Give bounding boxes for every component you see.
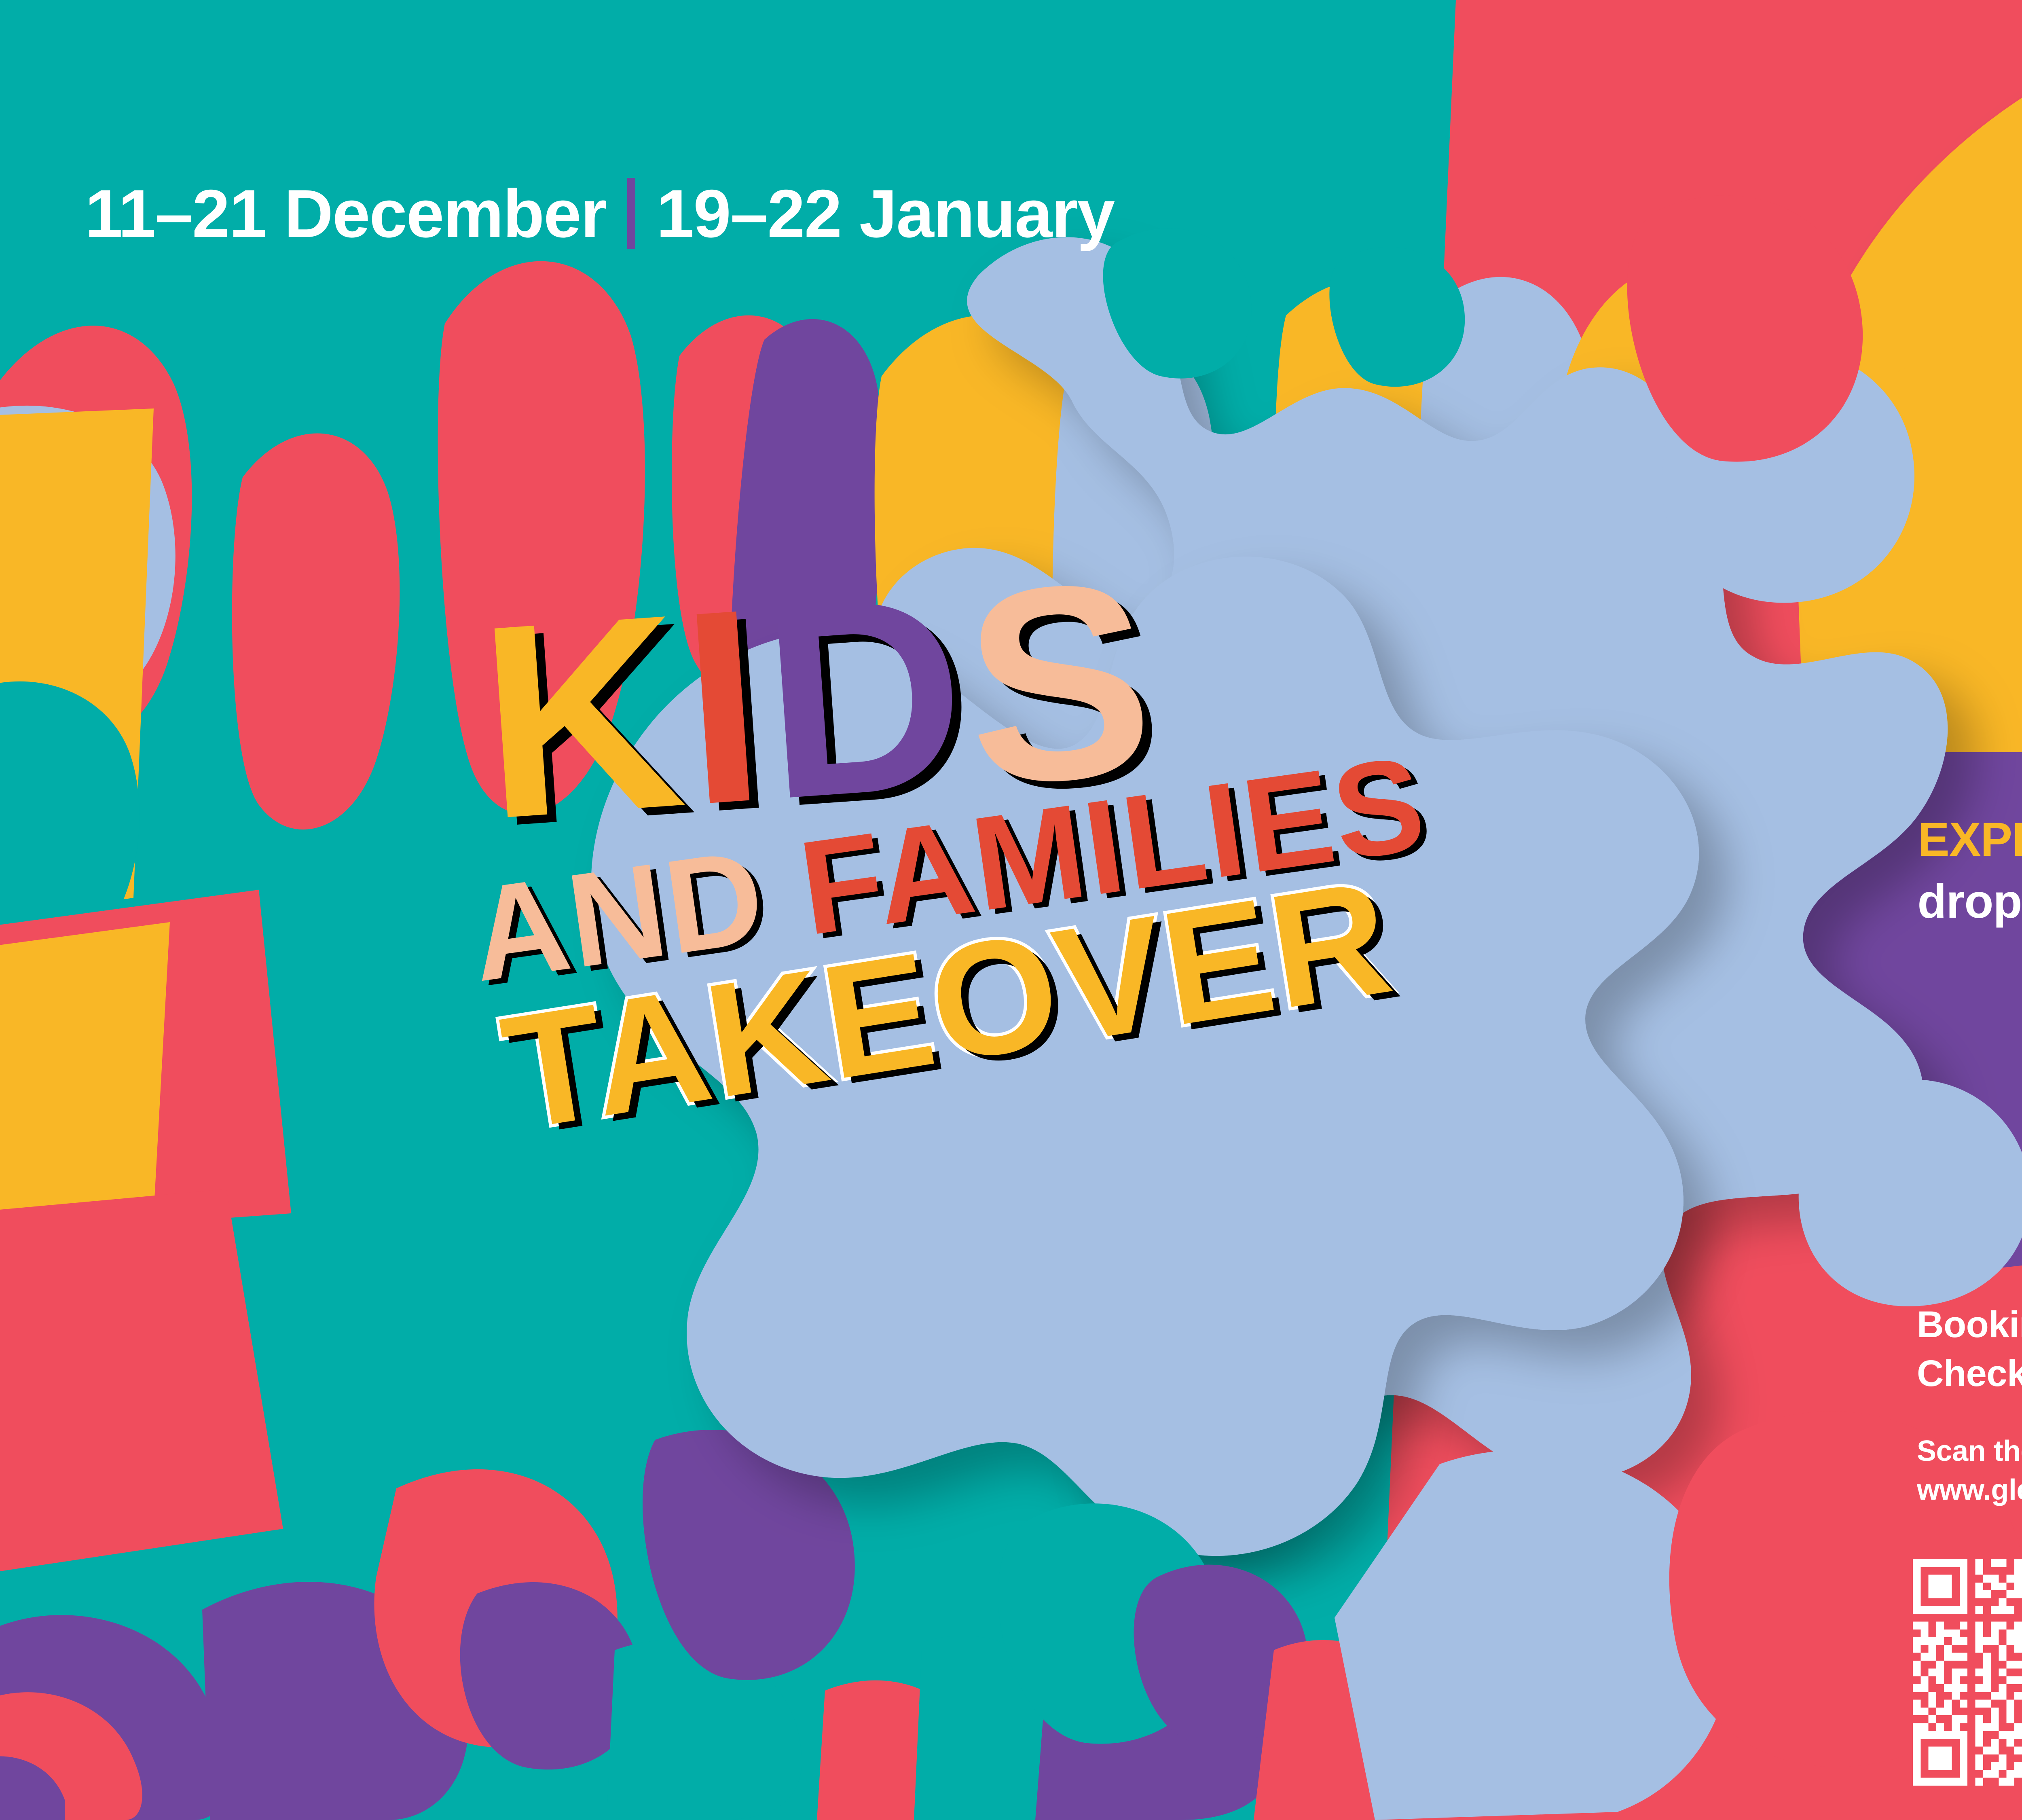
qr-code[interactable]	[1913, 1559, 2022, 1786]
booking-info-block: Bookings may be required. Prices vary. C…	[1917, 1300, 2022, 1399]
booking-line-1: Bookings may be required. Prices vary.	[1917, 1300, 2022, 1349]
date-first: 11–21 December	[85, 180, 606, 248]
explore-copy-block: EXPLORE a variety of workshops, performa…	[1909, 809, 2022, 995]
scan-instruction: Scan the QR Code or visit	[1917, 1432, 2022, 1471]
date-second: 19–22 January	[656, 180, 1114, 248]
booking-line-2: Check individual events for age recommen…	[1917, 1349, 2022, 1398]
title-letter-k: K	[473, 572, 694, 861]
poster-canvas: 11–21 December 19–22 January KIDS AND FA…	[0, 0, 2022, 1820]
date-header: 11–21 December 19–22 January	[85, 178, 1114, 249]
explore-lead-word: EXPLORE	[1918, 813, 2022, 866]
scan-info-block: Scan the QR Code or visit www.gleneira.v…	[1917, 1432, 2022, 1510]
website-url[interactable]: www.gleneira.vic.gov.au/kidsandfamiliest…	[1917, 1471, 2022, 1509]
date-divider-bar	[627, 178, 635, 249]
explore-paragraph: EXPLORE a variety of workshops, performa…	[1909, 809, 2022, 995]
main-title: KIDS AND FAMILIES TAKEOVER	[425, 586, 1880, 1436]
